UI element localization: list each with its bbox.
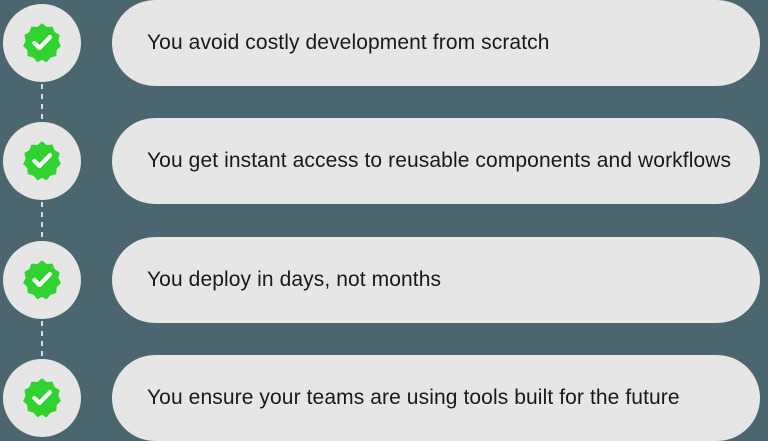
list-item: You get instant access to reusable compo…: [0, 118, 768, 204]
benefits-checklist: You avoid costly development from scratc…: [0, 0, 768, 441]
badge-circle: [3, 241, 81, 319]
badge-circle: [3, 122, 81, 200]
benefit-pill: You deploy in days, not months: [112, 237, 760, 323]
verified-check-badge-icon: [21, 22, 63, 64]
list-item: You deploy in days, not months: [0, 237, 768, 323]
benefit-text: You ensure your teams are using tools bu…: [147, 385, 680, 411]
benefit-text: You avoid costly development from scratc…: [147, 30, 550, 56]
benefit-pill: You ensure your teams are using tools bu…: [112, 355, 760, 441]
benefit-pill: You avoid costly development from scratc…: [112, 0, 760, 86]
benefit-text: You deploy in days, not months: [147, 267, 441, 293]
list-item: You ensure your teams are using tools bu…: [0, 355, 768, 441]
list-item: You avoid costly development from scratc…: [0, 0, 768, 86]
verified-check-badge-icon: [21, 140, 63, 182]
badge-circle: [3, 359, 81, 437]
verified-check-badge-icon: [21, 377, 63, 419]
benefit-pill: You get instant access to reusable compo…: [112, 118, 760, 204]
benefit-text: You get instant access to reusable compo…: [147, 148, 731, 174]
badge-circle: [3, 4, 81, 82]
verified-check-badge-icon: [21, 259, 63, 301]
